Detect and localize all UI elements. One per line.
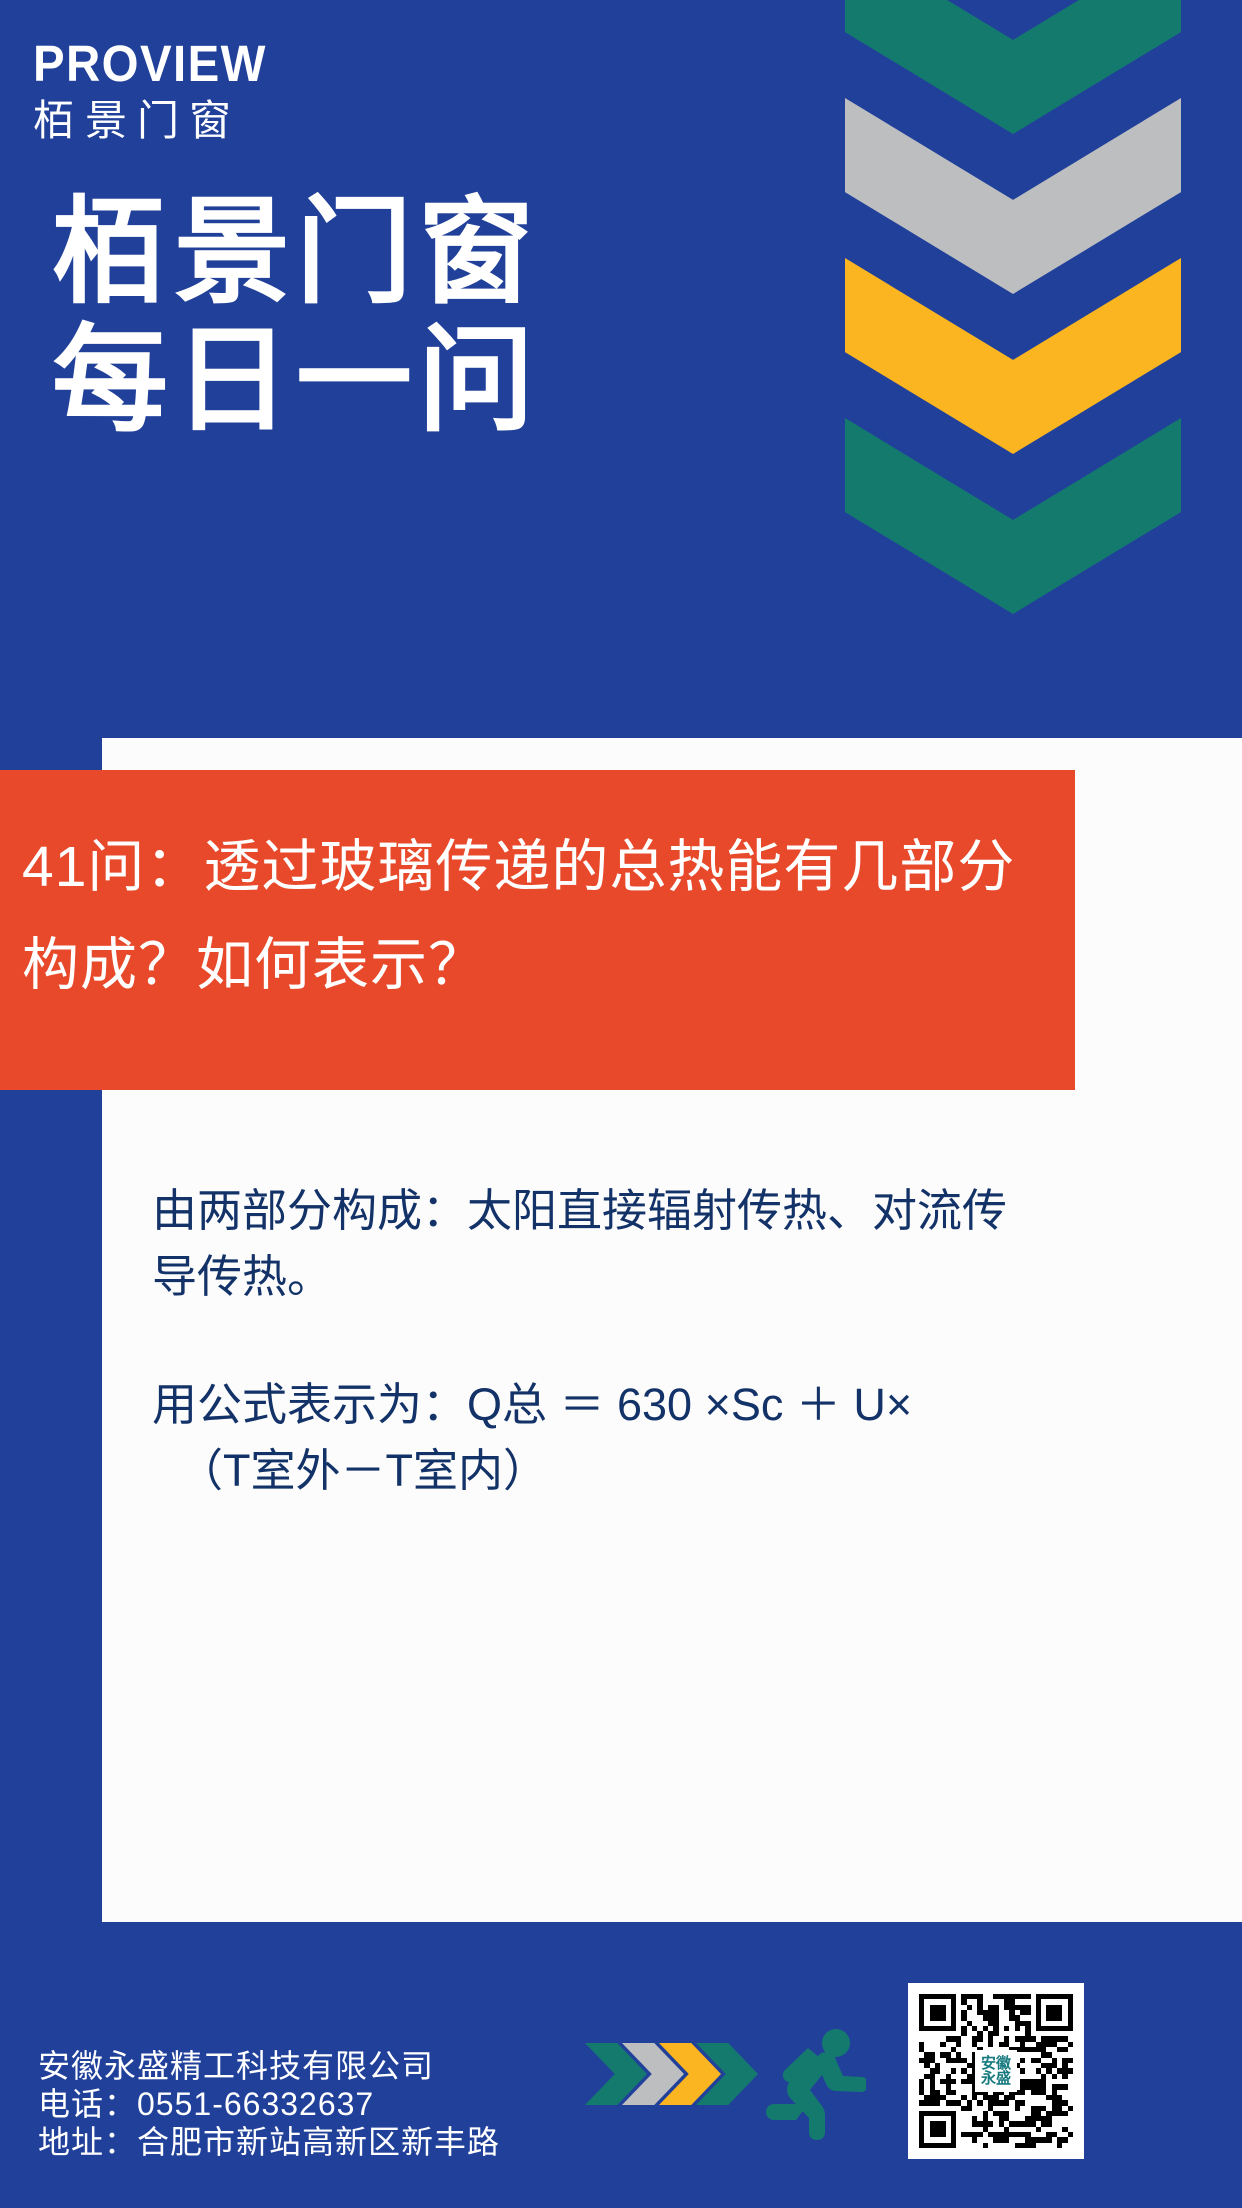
question-text: 41问：透过玻璃传递的总热能有几部分构成？如何表示？ [22, 818, 1052, 1014]
answer-paragraph-1: 由两部分构成：太阳直接辐射传热、对流传导传热。 [152, 1178, 1032, 1310]
footer-company-name: 安徽永盛精工科技有限公司 [38, 2047, 500, 2085]
qr-code-grid: 安徽永盛 [919, 1994, 1073, 2148]
chevron-decoration-stack [845, 0, 1181, 618]
running-person-icon [748, 2028, 866, 2140]
logo-chinese-name: 栢景门窗 [33, 98, 593, 144]
chevron-down-teal-1 [845, 0, 1181, 134]
answer-paragraph-2: 用公式表示为：Q总 ＝ 630 ×Sc ＋ U× （T室外－T室内） [152, 1372, 1032, 1504]
headline-line-2: 每日一问 [52, 316, 672, 444]
qr-code-center-logo: 安徽永盛 [975, 2050, 1017, 2092]
footer-phone: 电话：0551-66332637 [38, 2085, 500, 2123]
logo-wordmark: PROVIEW [33, 38, 554, 89]
footer-contact-block: 安徽永盛精工科技有限公司 电话：0551-66332637 地址：合肥市新站高新… [38, 2047, 500, 2161]
footer-address: 地址：合肥市新站高新区新丰路 [38, 2123, 500, 2161]
headline-line-1: 栢景门窗 [52, 188, 672, 316]
footer-chevron-group [585, 2043, 757, 2105]
formula-line-1: 用公式表示为：Q总 ＝ 630 ×Sc ＋ U× [152, 1379, 912, 1430]
formula-line-2: （T室外－T室内） [152, 1438, 1032, 1504]
answer-body: 由两部分构成：太阳直接辐射传热、对流传导传热。 用公式表示为：Q总 ＝ 630 … [152, 1178, 1032, 1504]
qr-code[interactable]: 安徽永盛 [908, 1983, 1084, 2159]
qr-code-center-label: 安徽永盛 [978, 2056, 1014, 2086]
brand-logo: PROVIEW 栢景门窗 [33, 38, 593, 144]
poster-headline: 栢景门窗 每日一问 [52, 188, 672, 444]
poster-root: { "colors": { "background_blue": "#20409… [0, 0, 1242, 2208]
question-banner: 41问：透过玻璃传递的总热能有几部分构成？如何表示？ [0, 770, 1075, 1090]
